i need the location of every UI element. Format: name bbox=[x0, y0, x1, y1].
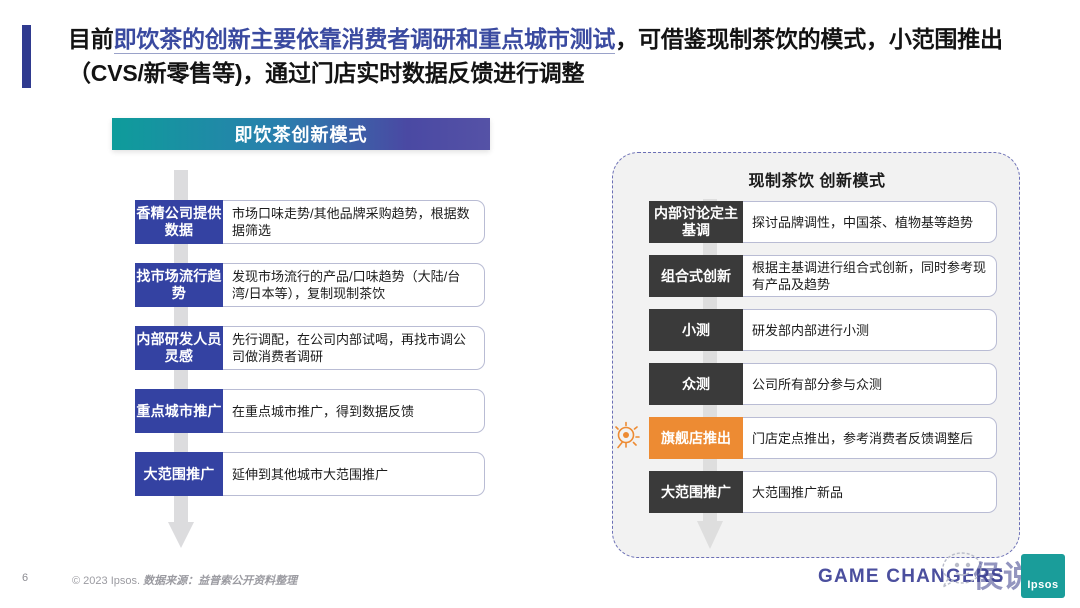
step-description: 市场口味走势/其他品牌采购趋势，根据数据筛选 bbox=[223, 200, 485, 244]
step-label: 内部讨论定主基调 bbox=[649, 201, 743, 243]
list-item[interactable]: 众测 公司所有部分参与众测 bbox=[649, 363, 997, 405]
copyright-text: © 2023 Ipsos. bbox=[72, 575, 140, 587]
step-description: 延伸到其他城市大范围推广 bbox=[223, 452, 485, 496]
list-item[interactable]: 香精公司提供数据 市场口味走势/其他品牌采购趋势，根据数据筛选 bbox=[135, 200, 485, 244]
list-item[interactable]: 内部讨论定主基调 探讨品牌调性，中国茶、植物基等趋势 bbox=[649, 201, 997, 243]
right-panel-freshly-made-tea-innovation: 现制茶饮 创新模式 内部讨论定主基调 探讨品牌调性，中国茶、植物基等趋势 组合式… bbox=[612, 152, 1020, 558]
page-title: 目前即饮茶的创新主要依靠消费者调研和重点城市测试，可借鉴现制茶饮的模式，小范围推… bbox=[68, 22, 1068, 90]
list-item-highlighted[interactable]: 旗舰店推出 门店定点推出，参考消费者反馈调整后 bbox=[649, 417, 997, 459]
ipsos-logo: Ipsos bbox=[1021, 554, 1065, 598]
slide-header: 目前即饮茶的创新主要依靠消费者调研和重点城市测试，可借鉴现制茶饮的模式，小范围推… bbox=[0, 0, 1080, 108]
step-description: 大范围推广新品 bbox=[743, 471, 997, 513]
list-item[interactable]: 大范围推广 延伸到其他城市大范围推广 bbox=[135, 452, 485, 496]
step-label: 重点城市推广 bbox=[135, 389, 223, 433]
step-description: 发现市场流行的产品/口味趋势（大陆/台湾/日本等），复制现制茶饮 bbox=[223, 263, 485, 307]
list-item[interactable]: 组合式创新 根据主基调进行组合式创新，同时参考现有产品及趋势 bbox=[649, 255, 997, 297]
step-description: 公司所有部分参与众测 bbox=[743, 363, 997, 405]
list-item[interactable]: 重点城市推广 在重点城市推广，得到数据反馈 bbox=[135, 389, 485, 433]
list-item[interactable]: 内部研发人员灵感 先行调配，在公司内部试喝，再找市调公司做消费者调研 bbox=[135, 326, 485, 370]
step-label: 大范围推广 bbox=[135, 452, 223, 496]
arrow-head bbox=[697, 521, 723, 549]
arrow-head bbox=[168, 522, 194, 548]
step-label: 大范围推广 bbox=[649, 471, 743, 513]
step-label: 旗舰店推出 bbox=[649, 417, 743, 459]
step-label: 找市场流行趋势 bbox=[135, 263, 223, 307]
step-label: 香精公司提供数据 bbox=[135, 200, 223, 244]
left-panel-rows: 香精公司提供数据 市场口味走势/其他品牌采购趋势，根据数据筛选 找市场流行趋势 … bbox=[135, 200, 485, 515]
source-text: 数据来源：益普索公开资料整理 bbox=[143, 575, 297, 587]
step-description: 先行调配，在公司内部试喝，再找市调公司做消费者调研 bbox=[223, 326, 485, 370]
step-description: 研发部内部进行小测 bbox=[743, 309, 997, 351]
step-label: 组合式创新 bbox=[649, 255, 743, 297]
title-segment-plain-1: 目前 bbox=[68, 26, 114, 52]
left-panel-title: 即饮茶创新模式 bbox=[235, 121, 368, 147]
ipsos-logo-label: Ipsos bbox=[1027, 579, 1058, 598]
step-label: 小测 bbox=[649, 309, 743, 351]
step-description: 在重点城市推广，得到数据反馈 bbox=[223, 389, 485, 433]
lightbulb-idea-icon bbox=[611, 420, 643, 454]
list-item[interactable]: 小测 研发部内部进行小测 bbox=[649, 309, 997, 351]
step-description: 根据主基调进行组合式创新，同时参考现有产品及趋势 bbox=[743, 255, 997, 297]
page-number: 6 bbox=[22, 572, 28, 584]
footer-copyright: © 2023 Ipsos. 数据来源：益普索公开资料整理 bbox=[72, 572, 297, 588]
list-item[interactable]: 找市场流行趋势 发现市场流行的产品/口味趋势（大陆/台湾/日本等），复制现制茶饮 bbox=[135, 263, 485, 307]
step-description: 门店定点推出，参考消费者反馈调整后 bbox=[743, 417, 997, 459]
right-panel-rows: 内部讨论定主基调 探讨品牌调性，中国茶、植物基等趋势 组合式创新 根据主基调进行… bbox=[649, 201, 997, 525]
step-description: 探讨品牌调性，中国茶、植物基等趋势 bbox=[743, 201, 997, 243]
title-segment-highlighted: 即饮茶的创新主要依靠消费者调研和重点城市测试 bbox=[114, 26, 616, 54]
left-panel-header: 即饮茶创新模式 bbox=[112, 118, 490, 150]
step-label: 众测 bbox=[649, 363, 743, 405]
header-accent-bar bbox=[22, 25, 31, 88]
right-panel-title: 现制茶饮 创新模式 bbox=[613, 167, 1021, 191]
list-item[interactable]: 大范围推广 大范围推广新品 bbox=[649, 471, 997, 513]
step-label: 内部研发人员灵感 bbox=[135, 326, 223, 370]
left-panel-rtd-tea-innovation: 即饮茶创新模式 香精公司提供数据 市场口味走势/其他品牌采购趋势，根据数据筛选 … bbox=[112, 118, 504, 548]
